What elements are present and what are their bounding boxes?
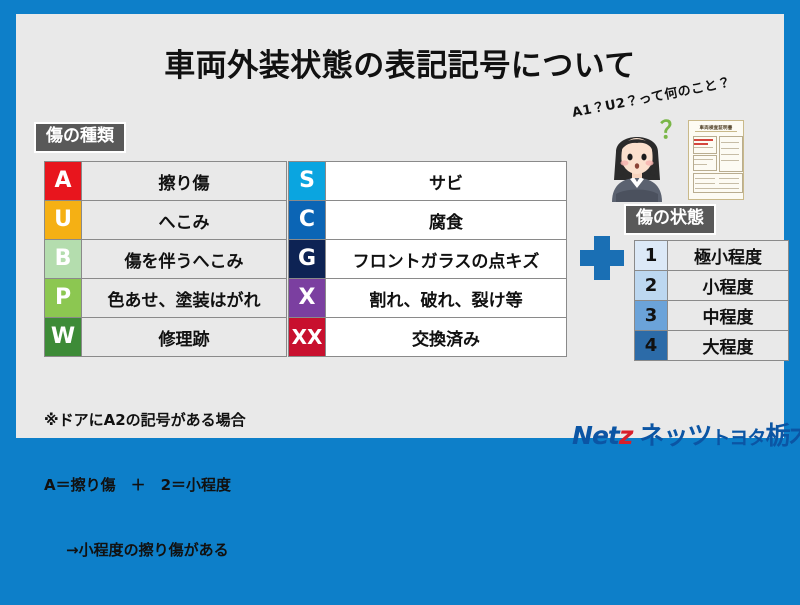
damage-kind-code-X: X [289,279,326,318]
plus-icon [580,236,624,280]
damage-kind-desc-S: サビ [326,162,567,201]
doc-thumb-title: 車両検査証明書 [695,125,737,132]
damage-kind-code-P: P [45,279,82,318]
damage-state-desc-1: 極小程度 [668,241,789,271]
netz-wordmark: Netz [572,423,632,448]
table-row: Uへこみ [45,201,287,240]
netz-letters-et: et [592,421,619,450]
damage-kind-desc-B: 傷を伴うへこみ [82,240,287,279]
damage-kind-left-table: A擦り傷UへこみB傷を伴うへこみP色あせ、塗装はがれW修理跡 [44,161,287,357]
table-row: P色あせ、塗装はがれ [45,279,287,318]
damage-kind-desc-W: 修理跡 [82,318,287,357]
damage-kind-right-table: SサビC腐食Gフロントガラスの点キズX割れ、破れ、裂け等XX交換済み [288,161,567,357]
damage-kind-desc-U: へこみ [82,201,287,240]
footnote-line-1: ※ドアにA2の記号がある場合 [44,410,246,432]
doc-thumb-body [689,134,743,194]
damage-kind-desc-P: 色あせ、塗装はがれ [82,279,287,318]
table-row: B傷を伴うへこみ [45,240,287,279]
table-row: Sサビ [289,162,567,201]
damage-state-body: 1極小程度2小程度3中程度4大程度 [635,241,789,361]
page-title: 車両外装状態の表記記号について [16,40,784,85]
footnote-line-2: A＝擦り傷 ＋ 2＝小程度 [44,475,246,497]
footnote-line-3: →小程度の擦り傷がある [44,540,246,562]
damage-kind-left-body: A擦り傷UへこみB傷を伴うへこみP色あせ、塗装はがれW修理跡 [45,162,287,357]
netz-letter-n: N [572,421,592,450]
damage-kind-desc-C: 腐食 [326,201,567,240]
table-row: W修理跡 [45,318,287,357]
damage-state-code-3: 3 [635,301,668,331]
section-badge-damage-kind: 傷の種類 [34,122,126,153]
table-row: 4大程度 [635,331,789,361]
damage-kind-desc-G: フロントガラスの点キズ [326,240,567,279]
netz-toyota-tochigi-logo: Netz ネッツトヨタ栃木 [572,418,800,452]
damage-kind-desc-A: 擦り傷 [82,162,287,201]
person-illustration [606,122,668,202]
dealer-name: ネッツトヨタ栃木 [639,423,800,448]
damage-kind-code-G: G [289,240,326,279]
table-row: Gフロントガラスの点キズ [289,240,567,279]
table-row: C腐食 [289,201,567,240]
dealer-name-kana: ネッツ [639,421,711,450]
damage-kind-desc-X: 割れ、破れ、裂け等 [326,279,567,318]
damage-kind-code-W: W [45,318,82,357]
question-mark-icon: ？ [660,118,684,142]
damage-kind-right-body: SサビC腐食Gフロントガラスの点キズX割れ、破れ、裂け等XX交換済み [289,162,567,357]
table-row: X割れ、破れ、裂け等 [289,279,567,318]
damage-kind-code-A: A [45,162,82,201]
netz-letter-z: z [619,421,633,450]
damage-kind-code-B: B [45,240,82,279]
damage-kind-code-U: U [45,201,82,240]
inspection-certificate-thumbnail: 車両検査証明書 [688,120,744,200]
damage-kind-code-S: S [289,162,326,201]
damage-state-table: 1極小程度2小程度3中程度4大程度 [634,240,789,361]
damage-kind-code-XX: XX [289,318,326,357]
slide-panel: 車両外装状態の表記記号について A1？U2？って何のこと？ [16,14,784,438]
table-row: 1極小程度 [635,241,789,271]
damage-state-desc-3: 中程度 [668,301,789,331]
damage-state-code-1: 1 [635,241,668,271]
table-row: A擦り傷 [45,162,287,201]
damage-state-code-2: 2 [635,271,668,301]
damage-kind-code-C: C [289,201,326,240]
damage-state-desc-4: 大程度 [668,331,789,361]
dealer-name-toyota: トヨタ [711,427,765,449]
slide-root: 車両外装状態の表記記号について A1？U2？って何のこと？ [0,0,800,450]
section-badge-damage-state: 傷の状態 [624,204,716,235]
table-row: 3中程度 [635,301,789,331]
dealer-name-region: 栃木 [765,421,800,450]
damage-state-desc-2: 小程度 [668,271,789,301]
table-row: XX交換済み [289,318,567,357]
plus-icon-vertical-bar [594,236,610,280]
table-row: 2小程度 [635,271,789,301]
footnote: ※ドアにA2の記号がある場合 A＝擦り傷 ＋ 2＝小程度 →小程度の擦り傷がある [44,366,246,605]
damage-state-code-4: 4 [635,331,668,361]
damage-kind-desc-XX: 交換済み [326,318,567,357]
